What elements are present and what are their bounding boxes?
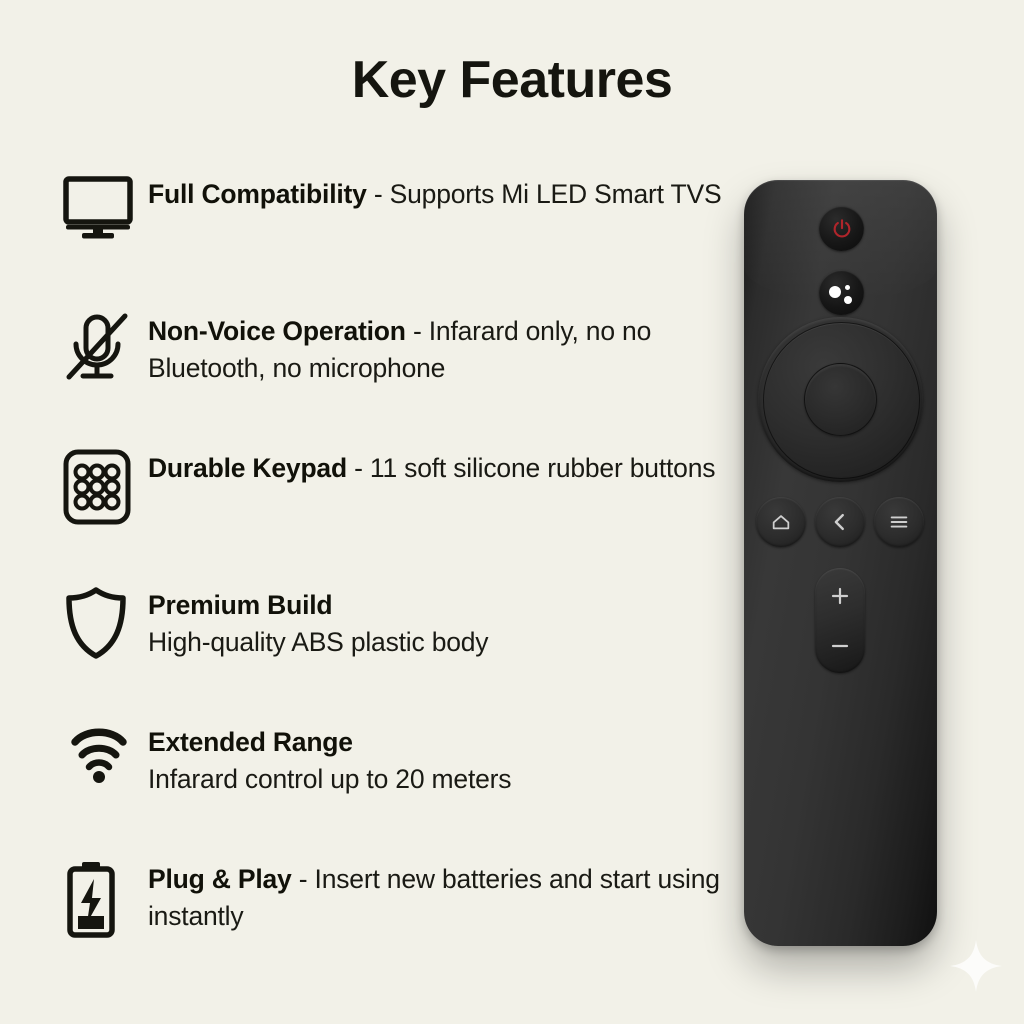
minus-icon [830, 636, 850, 656]
feature-text: Extended Range Infarard control up to 20… [148, 718, 742, 798]
feature-dash: - [292, 864, 315, 894]
feature-title: Full Compatibility [148, 179, 367, 209]
shield-icon [62, 581, 148, 659]
volume-rocker[interactable] [815, 568, 865, 673]
power-button[interactable] [819, 206, 864, 251]
feature-description: High-quality ABS plastic body [148, 624, 742, 661]
sparkle-star-icon [948, 938, 1004, 994]
dpad-ring[interactable] [758, 317, 923, 482]
feature-title: Premium Build [148, 590, 332, 620]
feature-title: Extended Range [148, 727, 353, 757]
home-button[interactable] [756, 497, 806, 547]
feature-title: Non-Voice Operation [148, 316, 406, 346]
battery-charging-icon [62, 855, 148, 933]
feature-item-full-compatibility: Full Compatibility - Supports Mi LED Sma… [62, 170, 742, 307]
volume-up[interactable] [815, 584, 865, 608]
feature-item-extended-range: Extended Range Infarard control up to 20… [62, 718, 742, 855]
feature-text: Full Compatibility - Supports Mi LED Sma… [148, 170, 742, 213]
feature-item-plug-and-play: Plug & Play - Insert new batteries and s… [62, 855, 742, 992]
menu-button[interactable] [874, 497, 924, 547]
feature-item-non-voice-operation: Non-Voice Operation - Infarard only, no … [62, 307, 742, 444]
keypad-grid-icon [62, 444, 148, 522]
feature-item-durable-keypad: Durable Keypad - 11 soft silicone rubber… [62, 444, 742, 581]
feature-description: Supports Mi LED Smart TVS [390, 179, 722, 209]
mi-dots-icon [829, 286, 841, 298]
ok-button[interactable] [804, 363, 877, 436]
remote-body [744, 180, 937, 946]
feature-title: Plug & Play [148, 864, 292, 894]
assistant-button[interactable] [819, 270, 864, 315]
page-title: Key Features [0, 50, 1024, 110]
mi-dots-icon-small [845, 285, 850, 290]
feature-title: Durable Keypad [148, 453, 347, 483]
microphone-off-icon [62, 307, 148, 385]
key-features-page: Key Features Full Compatibility - Suppor… [0, 0, 1024, 1024]
power-icon [831, 218, 853, 240]
mi-dots-icon-medium [844, 296, 852, 304]
wifi-signal-icon [62, 718, 148, 796]
hamburger-menu-icon [888, 512, 910, 532]
feature-dash: - [367, 179, 390, 209]
feature-description: Infarard control up to 20 meters [148, 761, 742, 798]
feature-description: 11 soft silicone rubber buttons [370, 453, 715, 483]
chevron-left-icon [829, 511, 851, 533]
remote-control-image [744, 180, 942, 950]
feature-list: Full Compatibility - Supports Mi LED Sma… [62, 170, 742, 992]
feature-text: Premium Build High-quality ABS plastic b… [148, 581, 742, 661]
feature-text: Non-Voice Operation - Infarard only, no … [148, 307, 742, 387]
feature-text: Plug & Play - Insert new batteries and s… [148, 855, 742, 935]
volume-down[interactable] [815, 634, 865, 658]
plus-icon [830, 586, 850, 606]
feature-item-premium-build: Premium Build High-quality ABS plastic b… [62, 581, 742, 718]
back-button[interactable] [815, 497, 865, 547]
feature-text: Durable Keypad - 11 soft silicone rubber… [148, 444, 742, 487]
feature-dash: - [406, 316, 429, 346]
feature-dash: - [347, 453, 370, 483]
home-icon [770, 511, 792, 533]
tv-monitor-icon [62, 170, 148, 248]
